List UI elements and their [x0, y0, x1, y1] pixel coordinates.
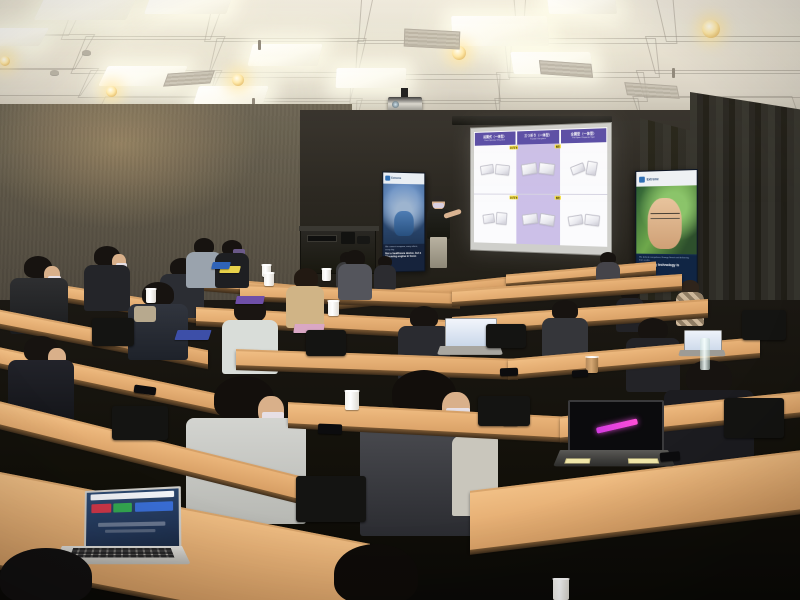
paper-cup: [322, 268, 331, 281]
chair[interactable]: [724, 398, 784, 438]
brand-logo-icon: [385, 176, 390, 181]
slide-cell: 推奨: [560, 142, 607, 194]
chair[interactable]: [478, 396, 530, 426]
chair[interactable]: [92, 318, 134, 346]
slide-header-subtitle: Front Opening / One-piece: [484, 139, 506, 142]
sprinkler-head-icon: [672, 68, 675, 78]
ceiling-light-panel: [144, 0, 234, 14]
ceiling-downlight: [106, 86, 117, 97]
attendee: [128, 282, 188, 356]
slide-header-3: 全開型（一体型） Full Open / Separate Type: [561, 128, 606, 143]
laptop-screen: [568, 400, 664, 452]
banner-left-image: [383, 184, 424, 247]
banner-brand-name: Extreme: [391, 177, 401, 180]
slide-header-subtitle: Full Open / Separate Type: [571, 136, 595, 139]
ceiling-light-panel: [193, 86, 269, 104]
smoke-detector-icon: [82, 50, 91, 55]
banner-brand-name: Extreme: [647, 177, 659, 181]
ceiling-downlight: [702, 20, 720, 38]
laptop-keyboard[interactable]: [553, 450, 675, 466]
banner-right-header: Extreme: [636, 170, 696, 187]
slide-cell: 推奨: [560, 195, 607, 247]
slide-row-2: おすすめ 推奨: [474, 194, 607, 247]
attendee-foreground: [0, 540, 120, 600]
smartphone: [572, 370, 588, 378]
slide-cell: [474, 194, 516, 243]
folder-purple: [235, 296, 265, 304]
attendee-foreground: [318, 544, 448, 600]
slide-header-1: 前開式（一体型） Front Opening / One-piece: [475, 131, 515, 145]
paper-cup: [264, 272, 274, 286]
banner-caption: We connect everyone, every where, every …: [385, 246, 422, 252]
attendee: [338, 250, 372, 298]
chair[interactable]: [306, 330, 346, 356]
slide-content: 前開式（一体型） Front Opening / One-piece 三つ折り（…: [474, 127, 607, 247]
slide-cell: [474, 145, 516, 194]
presenter: [424, 196, 454, 268]
ceiling-light-panel: [335, 68, 406, 88]
laptop-screen: [84, 486, 181, 548]
slide-tag: 推奨: [555, 144, 561, 148]
screen-block-blue: [134, 502, 172, 513]
paper-cup: [328, 300, 339, 316]
slide-tag: おすすめ: [509, 146, 518, 150]
paper-cup: [345, 390, 359, 410]
banner-right-image: [636, 185, 696, 254]
ceiling-light-panel: [547, 0, 617, 14]
slide-tag: おすすめ: [509, 195, 518, 199]
smartphone: [660, 451, 681, 462]
attendee: [374, 256, 396, 288]
seminar-room-photo: 前開式（一体型） Front Opening / One-piece 三つ折り（…: [0, 0, 800, 600]
ceiling-air-vent: [404, 29, 461, 50]
ceiling-light-panel: [34, 0, 139, 20]
attendee: [286, 268, 324, 324]
slide-header-2: 三つ折り（一体型） Tri-fold / One-piece: [517, 130, 560, 145]
water-bottle: [700, 338, 710, 370]
ceiling-downlight: [0, 56, 10, 66]
smartphone: [318, 424, 342, 435]
banner-left-header: Extreme: [383, 172, 424, 184]
screen-block-red: [92, 504, 111, 514]
slide-tag: 推奨: [555, 196, 561, 200]
bag-blue: [211, 262, 231, 269]
laptop-midground[interactable]: [560, 400, 668, 476]
ceiling-light-panel: [451, 16, 549, 46]
sticky-note: [628, 458, 660, 464]
chair[interactable]: [486, 324, 526, 348]
smartphone: [500, 368, 518, 377]
brand-logo-icon: [639, 176, 645, 182]
slide-header-subtitle: Tri-fold / One-piece: [529, 138, 546, 141]
slide-cell-highlight: おすすめ: [516, 194, 560, 245]
paper-cup: [553, 578, 569, 600]
sprinkler-head-icon: [258, 40, 261, 50]
smoke-detector-icon: [50, 70, 59, 75]
slide-row-1: おすすめ 推奨: [474, 142, 607, 194]
ceiling-downlight: [232, 74, 244, 86]
chair[interactable]: [296, 476, 366, 522]
screen-block-green: [114, 503, 132, 513]
sticky-note: [564, 458, 591, 464]
glasses-icon: [650, 213, 679, 219]
projection-screen: 前開式（一体型） Front Opening / One-piece 三つ折り（…: [470, 122, 612, 256]
slide-cell-highlight: おすすめ: [516, 143, 560, 194]
laptop-screen-text: [596, 418, 639, 433]
banner-portrait: [648, 198, 682, 249]
folder-blue: [174, 330, 211, 340]
paper-cup: [146, 288, 156, 303]
attendee: [84, 246, 130, 308]
chair[interactable]: [112, 406, 168, 440]
chair[interactable]: [742, 310, 786, 340]
